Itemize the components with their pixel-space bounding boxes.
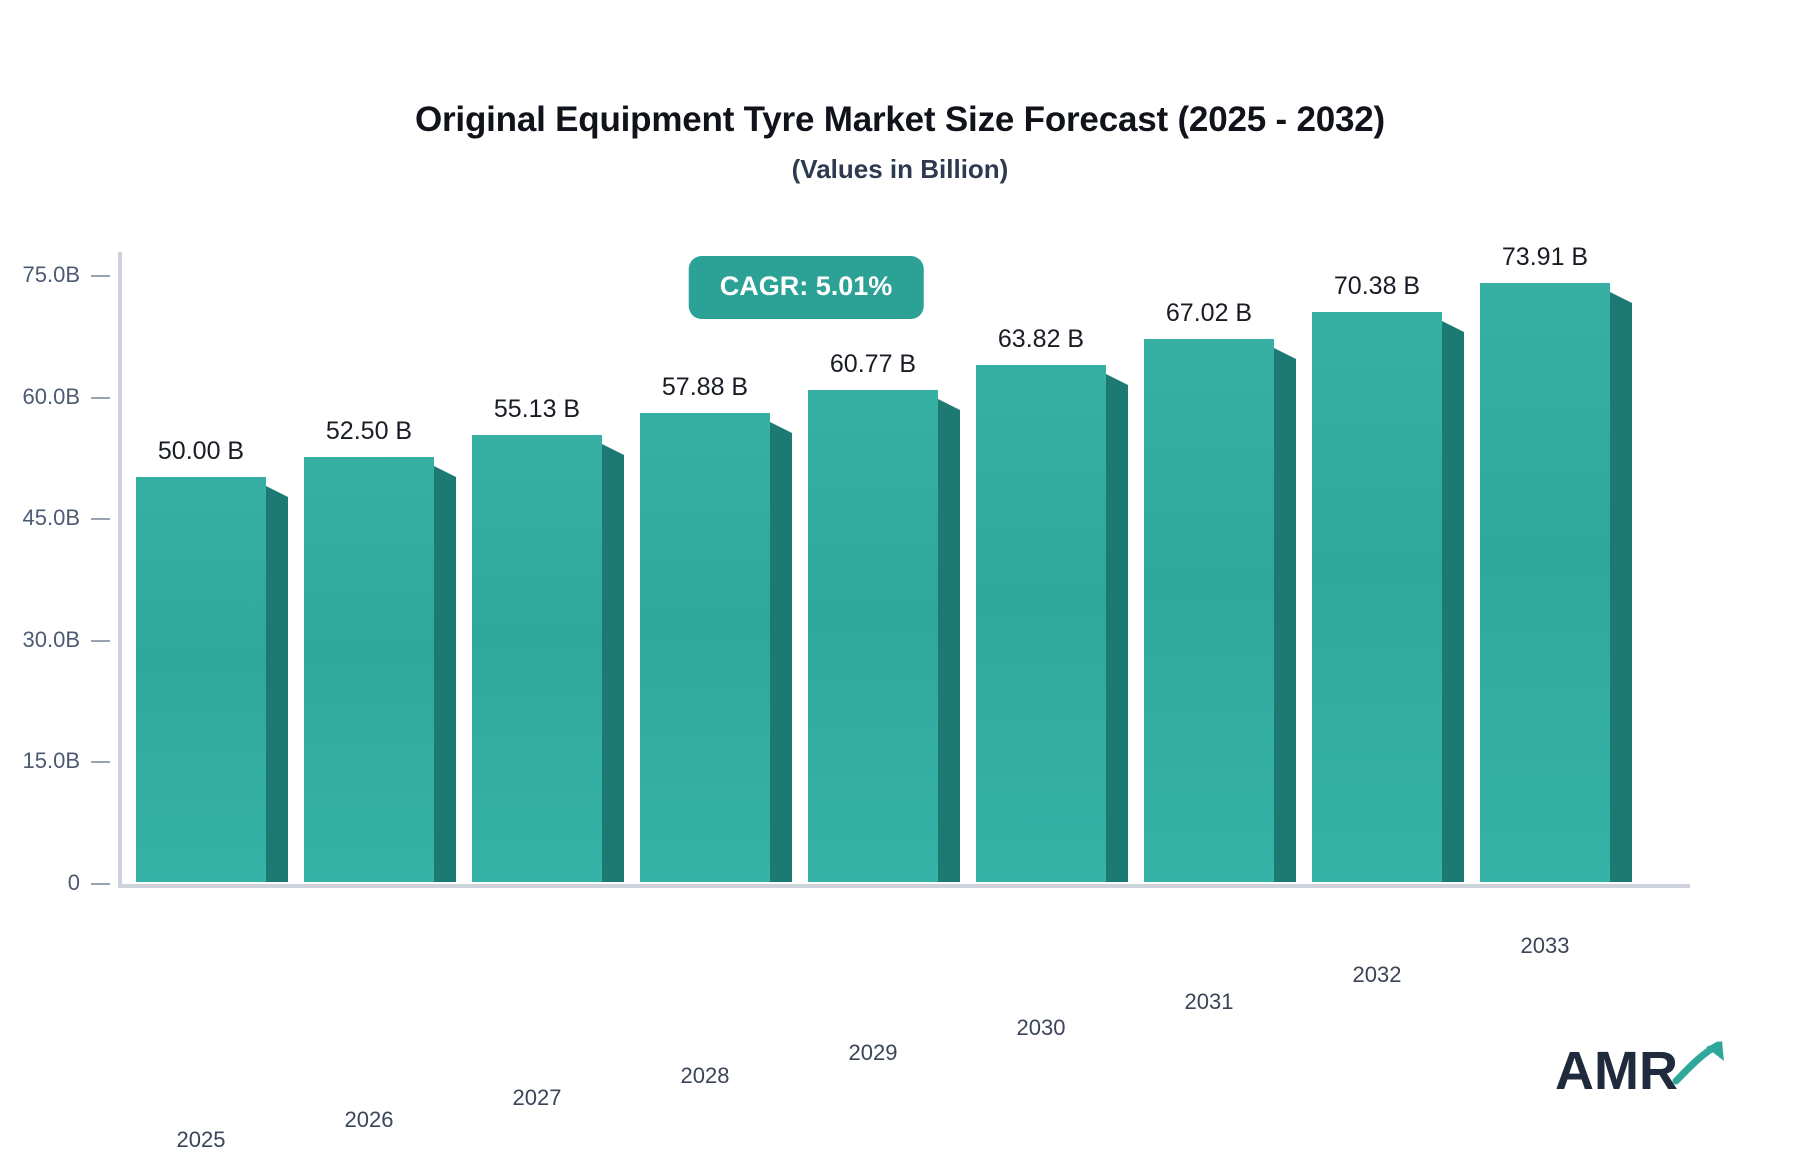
bar-side-face	[770, 422, 792, 882]
title-block: Original Equipment Tyre Market Size Fore…	[0, 98, 1800, 187]
x-axis-label-2033: 2033	[1521, 933, 1570, 959]
x-axis-label-2025: 2025	[177, 1127, 226, 1153]
y-tick-mark	[91, 640, 110, 642]
x-axis-label-2026: 2026	[345, 1107, 394, 1133]
bar-side-face	[1442, 321, 1464, 882]
x-axis-line	[118, 884, 1690, 888]
bar-value-label: 50.00 B	[158, 437, 244, 466]
x-axis-label-2028: 2028	[681, 1063, 730, 1089]
y-tick-mark	[91, 397, 110, 399]
x-axis-label-2029: 2029	[849, 1040, 898, 1066]
bar-face	[976, 365, 1106, 882]
y-axis-line	[118, 252, 122, 886]
bar-side-face	[1106, 374, 1128, 882]
bar-2026: 52.50 B 2026	[304, 457, 434, 882]
bar-2027: 55.13 B 2027	[472, 435, 602, 882]
bar-2030: 63.82 B 2030	[976, 365, 1106, 882]
bar-value-label: 63.82 B	[998, 325, 1084, 354]
bar-face	[1312, 312, 1442, 882]
bar-face	[304, 457, 434, 882]
amr-logo: AMR	[1555, 1044, 1728, 1098]
bar-2033: 73.91 B 2033	[1480, 283, 1610, 882]
bar-side-face	[602, 444, 624, 882]
bar-value-label: 60.77 B	[830, 350, 916, 379]
y-tick-mark	[91, 883, 110, 885]
y-tick-mark	[91, 761, 110, 763]
bar-face	[808, 390, 938, 882]
bar-2028: 57.88 B 2028	[640, 413, 770, 882]
y-tick-mark	[91, 275, 110, 277]
bar-value-label: 67.02 B	[1166, 299, 1252, 328]
bar-value-label: 55.13 B	[494, 395, 580, 424]
x-axis-label-2031: 2031	[1185, 989, 1234, 1015]
bar-face	[1144, 339, 1274, 882]
y-tick-label: 75.0B	[23, 262, 81, 288]
x-axis-label-2032: 2032	[1353, 962, 1402, 988]
bar-side-face	[266, 486, 288, 882]
bar-side-face	[938, 399, 960, 882]
chart-subtitle: (Values in Billion)	[0, 151, 1800, 187]
logo-text: AMR	[1555, 1044, 1678, 1098]
x-axis-label-2030: 2030	[1017, 1015, 1066, 1041]
arrow-up-right-icon	[1672, 1035, 1728, 1092]
bar-side-face	[1610, 292, 1632, 882]
bar-2031: 67.02 B 2031	[1144, 339, 1274, 882]
bar-face	[136, 477, 266, 882]
plot-area: 75.0B 60.0B 45.0B 30.0B 15.0B 0 50.00 B	[118, 252, 1690, 886]
bar-2025: 50.00 B 2025	[136, 477, 266, 882]
bar-value-label: 52.50 B	[326, 417, 412, 446]
bar-side-face	[1274, 348, 1296, 882]
bar-face	[640, 413, 770, 882]
y-tick-label: 60.0B	[23, 384, 81, 410]
y-tick-label: 15.0B	[23, 748, 81, 774]
y-tick-label: 30.0B	[23, 627, 81, 653]
bar-face	[472, 435, 602, 882]
bar-value-label: 73.91 B	[1502, 243, 1588, 272]
bar-side-face	[434, 466, 456, 882]
bar-face	[1480, 283, 1610, 882]
x-axis-label-2027: 2027	[513, 1085, 562, 1111]
bar-value-label: 70.38 B	[1334, 272, 1420, 301]
y-tick-mark	[91, 518, 110, 520]
y-tick-label: 0	[68, 870, 80, 896]
bar-2032: 70.38 B 2032	[1312, 312, 1442, 882]
y-tick-label: 45.0B	[23, 505, 81, 531]
bar-2029: 60.77 B 2029	[808, 390, 938, 882]
bar-value-label: 57.88 B	[662, 373, 748, 402]
chart-canvas: Original Equipment Tyre Market Size Fore…	[0, 0, 1800, 1156]
page-title: Original Equipment Tyre Market Size Fore…	[0, 98, 1800, 142]
